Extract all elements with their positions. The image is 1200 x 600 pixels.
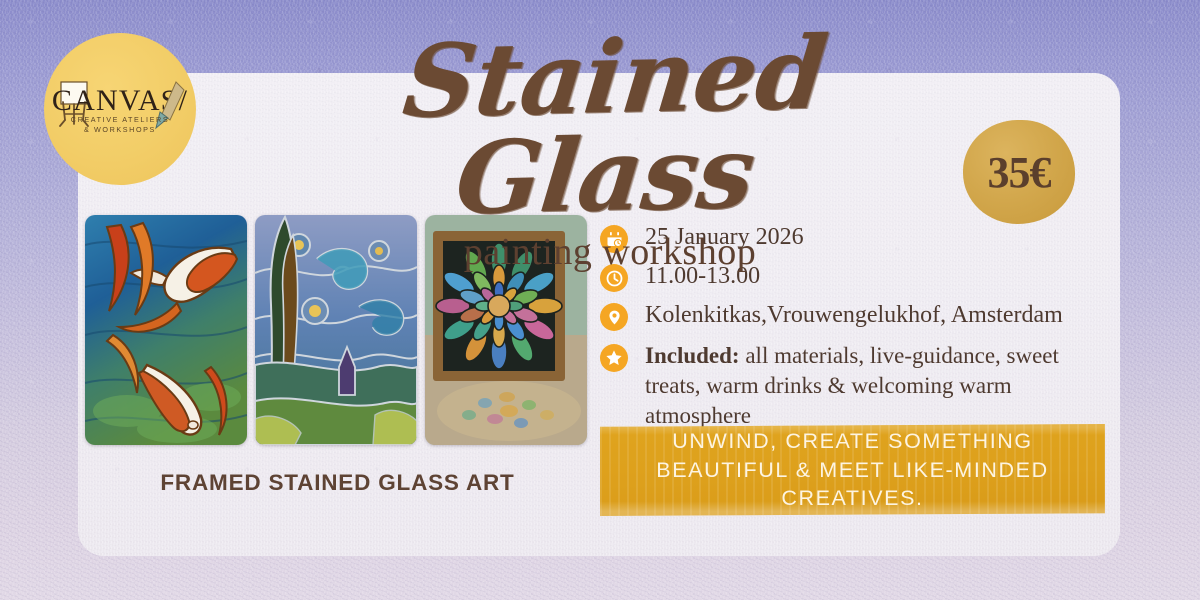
tagline-ribbon: UNWIND, CREATE SOMETHING BEAUTIFUL & MEE… (600, 424, 1105, 516)
tagline-line-2: BEAUTIFUL & MEET LIKE-MINDED (656, 458, 1048, 482)
included-label: Included: (645, 343, 740, 368)
detail-row-included: Included: all materials, live-guidance, … (600, 341, 1110, 431)
workshop-title: Stained Glass (279, 21, 940, 230)
gallery-caption: FRAMED STAINED GLASS ART (85, 470, 590, 496)
event-location: Kolenkitkas,Vrouwengelukhof, Amsterdam (645, 300, 1063, 330)
price-badge: 35€ (963, 120, 1075, 224)
brand-tagline: CREATIVE ATELIERS & WORKSHOPS (71, 115, 169, 136)
brand-tagline-line2: & WORKSHOPS (84, 125, 156, 134)
price-value: 35€ (988, 147, 1051, 198)
star-icon (600, 344, 628, 372)
event-included: Included: all materials, live-guidance, … (645, 341, 1110, 431)
detail-row-location: Kolenkitkas,Vrouwengelukhof, Amsterdam (600, 300, 1110, 331)
brand-logo-inner: CANVAS/ CREATIVE ATELIERS & WORKSHOPS (50, 74, 190, 144)
brand-logo-badge[interactable]: CANVAS/ CREATIVE ATELIERS & WORKSHOPS (44, 33, 196, 185)
brand-tagline-line1: CREATIVE ATELIERS (71, 115, 169, 124)
location-pin-icon (600, 303, 628, 331)
tagline-line-3: CREATIVES. (781, 486, 923, 510)
photo-koi-fish (85, 215, 247, 445)
headline-block: Stained Glass painting workshop (290, 28, 930, 274)
tagline-text: UNWIND, CREATE SOMETHING BEAUTIFUL & MEE… (642, 427, 1062, 513)
workshop-subtitle: painting workshop (290, 230, 930, 274)
event-flyer: CANVAS/ CREATIVE ATELIERS & WORKSHOPS St… (0, 0, 1200, 600)
tagline-line-1: UNWIND, CREATE SOMETHING (672, 429, 1033, 453)
